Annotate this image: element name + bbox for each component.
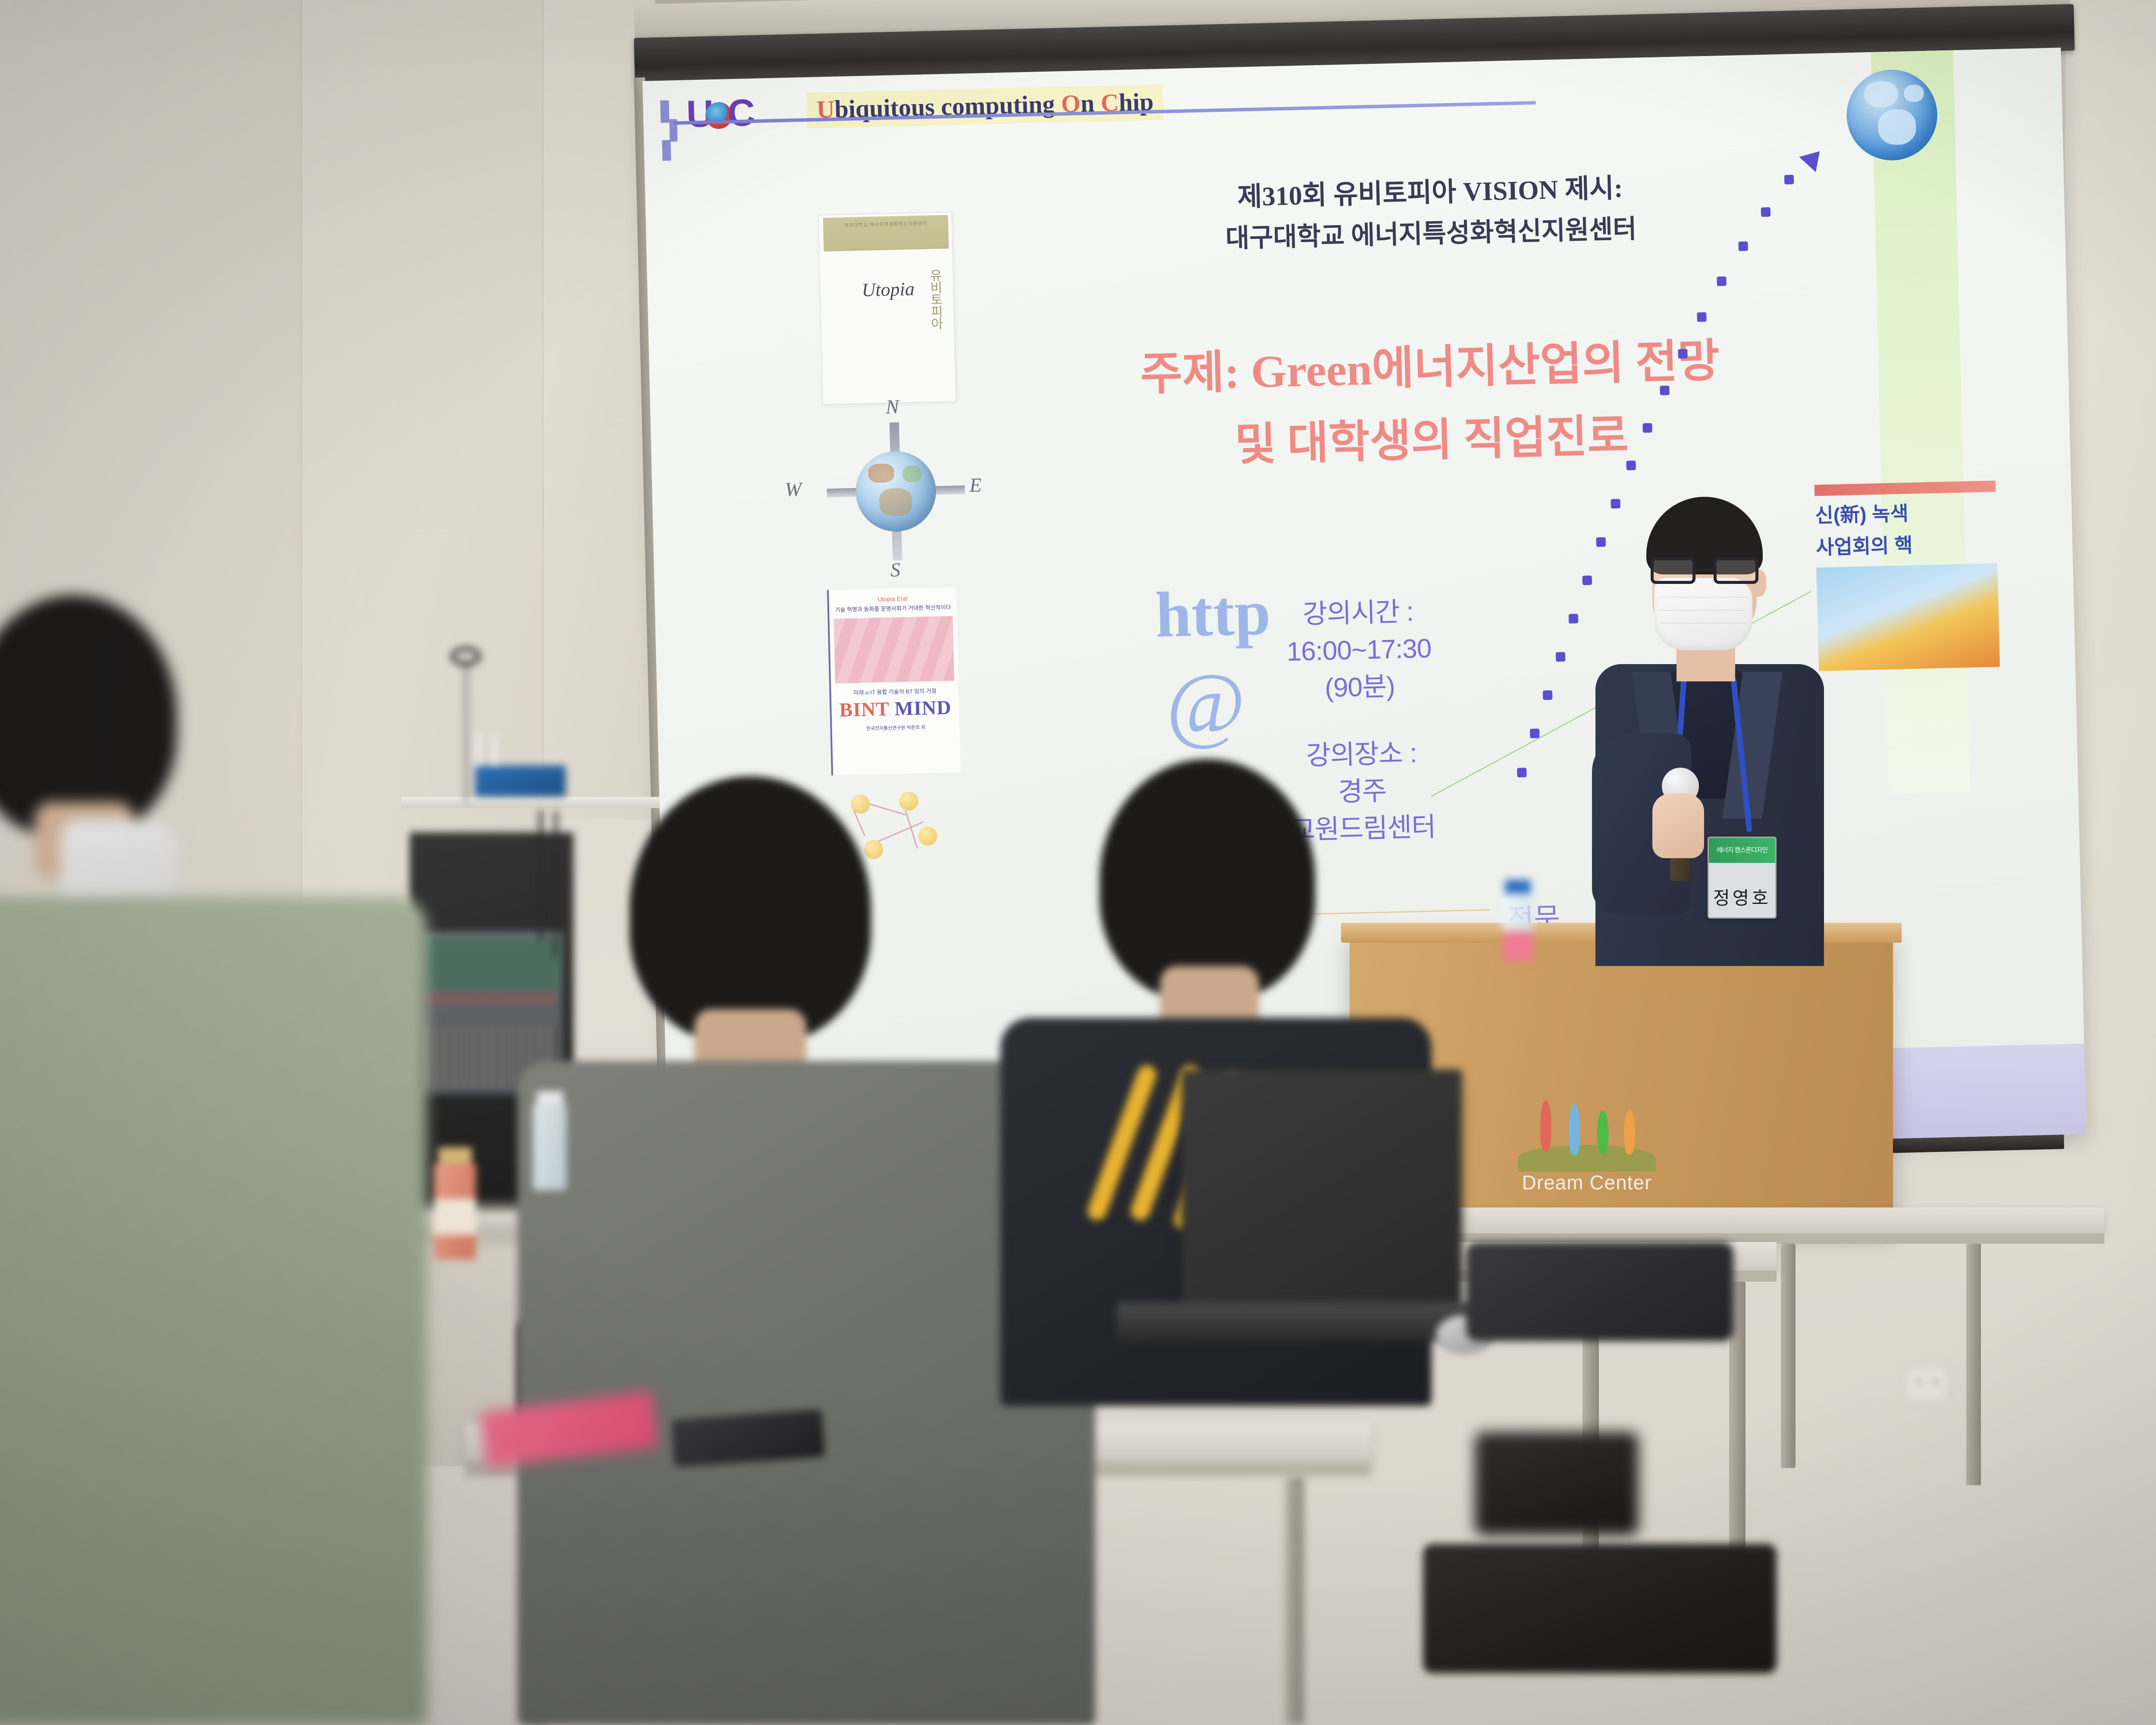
laptop-screen[interactable] — [1181, 1069, 1462, 1311]
badge-name: 정영호 — [1709, 884, 1775, 910]
pink-book-cover: Utopia Era! 기술 혁명과 동화를 문명사회가 거대한 혁신적이다 미… — [827, 587, 961, 775]
left-book-band-text: 대구대학교 에너지특성화혁신지원센터 — [823, 219, 948, 229]
bottle-cap-3 — [438, 1147, 472, 1164]
water-bottle-podium[interactable] — [1501, 880, 1535, 962]
lecture-room-photo: UC Ubiquitous computing On Chip 제310회 유비… — [0, 0, 2156, 1725]
lecture-time-label: 강의시간 : — [1224, 592, 1492, 635]
dream-center-sprout-red-icon — [1540, 1100, 1551, 1152]
dream-center-sprout-orange-icon — [1624, 1110, 1635, 1154]
dream-center-logo: Dream Center — [1501, 1098, 1673, 1197]
water-bottle-left[interactable] — [530, 1091, 569, 1190]
badge-organization: 에너지 캠스론디자인 — [1709, 838, 1775, 863]
lecture-time-duration: (90분) — [1226, 666, 1494, 709]
chair-2[interactable] — [1423, 1544, 1777, 1673]
desk-leg-r2 — [1966, 1244, 1981, 1485]
uoc-letter-c: C — [727, 91, 751, 134]
compass-label-e: E — [969, 474, 982, 497]
bottle-label-3 — [434, 1199, 476, 1235]
left-book-title: Utopia — [862, 278, 915, 301]
speaker-face-mask — [1654, 578, 1752, 650]
compass-label-n: N — [885, 395, 899, 418]
uoc-logo-text: UC — [686, 91, 751, 136]
pink-book-title-a: BINT — [839, 698, 890, 721]
speaker-person: 에너지 캠스론디자인 정영호 — [1570, 492, 1915, 966]
dotted-arrow-head-icon — [1799, 144, 1828, 172]
wall-power-outlet[interactable] — [1906, 1367, 1947, 1402]
pink-book-eyebrow: Utopia Era! — [829, 594, 956, 604]
bottle-body-2 — [533, 1103, 567, 1190]
left-book-band: 대구대학교 에너지특성화혁신지원센터 — [823, 215, 949, 251]
pink-book-author: 한국전자통신연구원 박준호 외 — [832, 723, 959, 733]
audience-person-foreground-left — [0, 595, 492, 1725]
laptop-bag — [1466, 1242, 1733, 1341]
dream-center-label: Dream Center — [1501, 1171, 1673, 1194]
bottle-label-1 — [1502, 931, 1533, 962]
pink-book-title-b: MIND — [894, 696, 952, 720]
audience-head-2 — [630, 776, 871, 1044]
chair-3[interactable] — [1475, 1432, 1639, 1535]
speaker-eyeglasses-icon — [1651, 557, 1758, 585]
compass-globe-icon — [855, 450, 937, 532]
bottle-cap-1 — [1505, 880, 1531, 894]
left-book-vertical-text: 유비토피아 — [919, 269, 943, 329]
speaker-name-badge: 에너지 캠스론디자인 정영호 — [1708, 837, 1777, 919]
compass-label-w: W — [785, 478, 802, 501]
compass-label-s: S — [890, 558, 900, 581]
compass-rose-icon: N S W E — [823, 419, 969, 565]
desk-row-front-right — [1457, 1207, 2104, 1233]
desk-leg-l2 — [1285, 1477, 1304, 1725]
pink-book-artwork — [834, 616, 954, 683]
audience-head-1 — [0, 595, 177, 837]
speaker-hand — [1652, 793, 1704, 858]
dream-center-hill-icon — [1518, 1145, 1656, 1172]
dream-center-sprout-green-icon — [1597, 1110, 1608, 1154]
lecture-time-value: 16:00~17:30 — [1225, 629, 1493, 672]
laptop-keyboard-base[interactable] — [1117, 1302, 1488, 1341]
audience-head-3 — [1100, 759, 1315, 1000]
bottle-cap-2 — [536, 1091, 563, 1104]
pink-book-title: BINT MIND — [831, 696, 959, 721]
left-book-cover: 대구대학교 에너지특성화혁신지원센터 Utopia 유비토피아 — [818, 212, 956, 405]
juice-bottle-left[interactable] — [431, 1147, 479, 1259]
audience-body-1 — [0, 897, 427, 1725]
dream-center-sprout-blue-icon — [1569, 1104, 1580, 1155]
pink-book-sub2: 미래 u-IT 융합 기술의 BT 임의 거점 — [831, 686, 959, 697]
desk-leg-r1 — [1781, 1244, 1796, 1468]
antenna-2-icon — [492, 733, 496, 766]
pink-book-sub1: 기술 혁명과 동화를 문명사회가 거대한 혁신적이다 — [829, 602, 957, 614]
uoc-mark-icon — [660, 100, 679, 161]
